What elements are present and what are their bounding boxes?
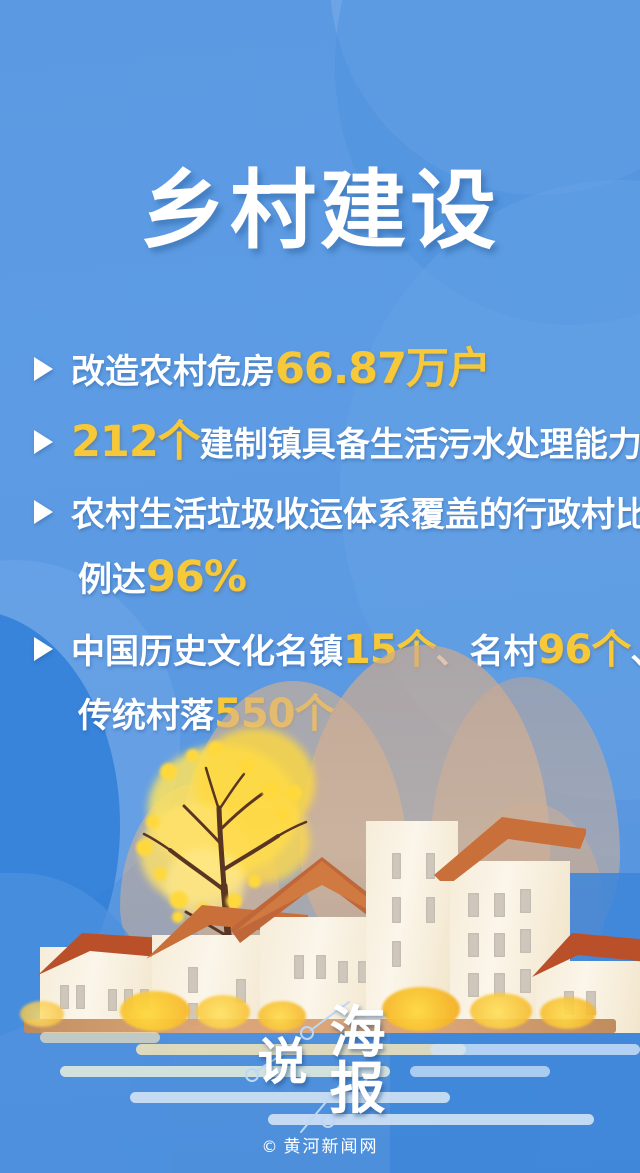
copyright-icon: © [262,1137,280,1156]
flower-bush [20,1001,64,1027]
logo-char-hai: 海 [330,1006,386,1062]
triangle-right-icon [34,500,53,524]
bullet-text: 农村生活垃圾收运体系覆盖的行政村比 [71,495,640,535]
water-ripple [430,1044,640,1055]
flower-bush [196,995,250,1029]
flower-bush [120,991,190,1031]
page-title: 乡村建设 [0,168,640,254]
logo-char-shuo: 说 [258,1037,308,1087]
roof-shape [416,809,586,881]
list-item: 农村生活垃圾收运体系覆盖的行政村比 例达96% [34,484,622,611]
triangle-right-icon [34,357,53,381]
bullet-text: 例达 [78,560,146,600]
bullet-value: 66.87万户 [275,344,490,394]
poster-root: 乡村建设 改造农村危房66.87万户 212个建制镇具备生活污水处理能力 农村生… [0,0,640,1173]
list-item: 212个建制镇具备生活污水处理能力 [34,411,622,476]
footer-credit: ©黄河新闻网 [0,1132,640,1157]
water-ripple [410,1066,550,1077]
water-ripple [40,1032,160,1043]
bullet-text: 建制镇具备生活污水处理能力 [200,425,640,465]
roof-shape [524,927,640,983]
brand-logo: 海 说 报 [245,1006,395,1118]
triangle-right-icon [34,430,53,454]
source-name: 黄河新闻网 [284,1137,379,1157]
logo-char-bao: 报 [330,1062,386,1118]
bullet-value: 212个 [71,417,200,467]
flower-bush [540,997,596,1029]
flower-bush [470,993,532,1029]
list-item: 改造农村危房66.87万户 [34,338,622,403]
bullet-value: 96% [146,552,246,602]
bullet-text: 改造农村危房 [71,352,275,392]
